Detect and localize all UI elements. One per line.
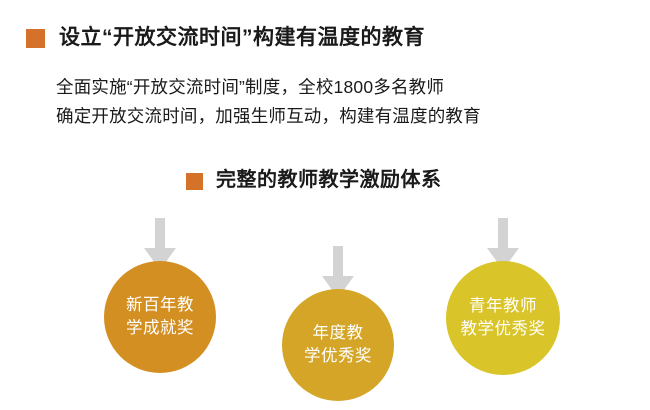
page-title-text: 设立“开放交流时间”构建有温度的教育: [59, 25, 425, 51]
award-system-diagram: 新百年教 学成就奖 年度教 学优秀奖 青年教师 教学优秀奖: [0, 0, 650, 410]
award-circle-1-line-2: 学成就奖: [126, 317, 194, 340]
section-heading: 完整的教师教学激励体系: [186, 168, 442, 192]
page-title: 设立“开放交流时间”构建有温度的教育: [26, 25, 425, 51]
body-paragraph: 全面实施“开放交流时间”制度，全校1800多名教师 确定开放交流时间，加强生师互…: [56, 73, 626, 131]
slide-canvas: 设立“开放交流时间”构建有温度的教育 全面实施“开放交流时间”制度，全校1800…: [0, 0, 650, 410]
award-circle-2[interactable]: 年度教 学优秀奖: [282, 289, 394, 401]
award-circle-3-line-1: 青年教师: [469, 295, 537, 318]
body-line-1: 全面实施“开放交流时间”制度，全校1800多名教师: [56, 73, 626, 102]
square-bullet-icon: [186, 173, 203, 190]
award-circle-3[interactable]: 青年教师 教学优秀奖: [446, 261, 560, 375]
award-circle-3-line-2: 教学优秀奖: [461, 318, 546, 341]
square-bullet-icon: [26, 29, 45, 48]
award-circle-2-line-1: 年度教: [313, 322, 364, 345]
award-circle-2-line-2: 学优秀奖: [304, 345, 372, 368]
body-line-2: 确定开放交流时间，加强生师互动，构建有温度的教育: [56, 102, 626, 131]
award-circle-1[interactable]: 新百年教 学成就奖: [104, 261, 216, 373]
award-circle-1-line-1: 新百年教: [126, 294, 194, 317]
section-heading-text: 完整的教师教学激励体系: [216, 168, 442, 192]
